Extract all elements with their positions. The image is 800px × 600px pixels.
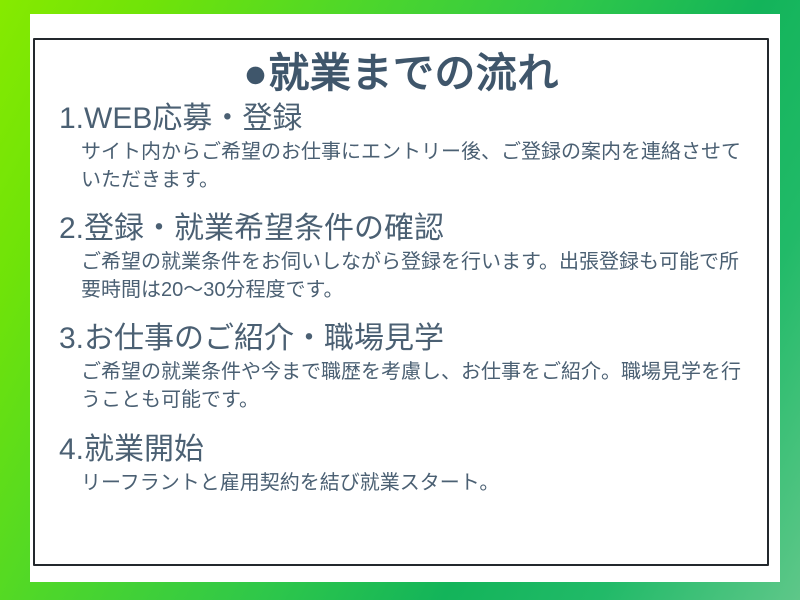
step-heading-3: 3.お仕事のご紹介・職場見学	[47, 319, 755, 358]
step-body-2: ご希望の就業条件をお伺いしながら登録を行います。出張登録も可能で所要時間は20〜…	[47, 248, 755, 305]
step-body-1: サイト内からご希望のお仕事にエントリー後、ご登録の案内を連絡させていただきます。	[47, 138, 755, 195]
page-title: ●就業までの流れ	[47, 52, 755, 95]
step-heading-1: 1.WEB応募・登録	[47, 99, 755, 138]
step-item-1: 1.WEB応募・登録 サイト内からご希望のお仕事にエントリー後、ご登録の案内を連…	[47, 99, 755, 195]
step-body-3: ご希望の就業条件や今まで職歴を考慮し、お仕事をご紹介。職場見学を行うことも可能で…	[47, 358, 755, 415]
step-item-2: 2.登録・就業希望条件の確認 ご希望の就業条件をお伺いしながら登録を行います。出…	[47, 209, 755, 305]
step-heading-2: 2.登録・就業希望条件の確認	[47, 209, 755, 248]
step-heading-4: 4.就業開始	[47, 430, 755, 469]
slide-canvas: ●就業までの流れ 1.WEB応募・登録 サイト内からご希望のお仕事にエントリー後…	[0, 0, 800, 600]
step-body-4: リーフラントと雇用契約を結び就業スタート。	[47, 469, 755, 497]
step-item-3: 3.お仕事のご紹介・職場見学 ご希望の就業条件や今まで職歴を考慮し、お仕事をご紹…	[47, 319, 755, 415]
slide-content: ●就業までの流れ 1.WEB応募・登録 サイト内からご希望のお仕事にエントリー後…	[33, 38, 769, 566]
step-item-4: 4.就業開始 リーフラントと雇用契約を結び就業スタート。	[47, 430, 755, 497]
